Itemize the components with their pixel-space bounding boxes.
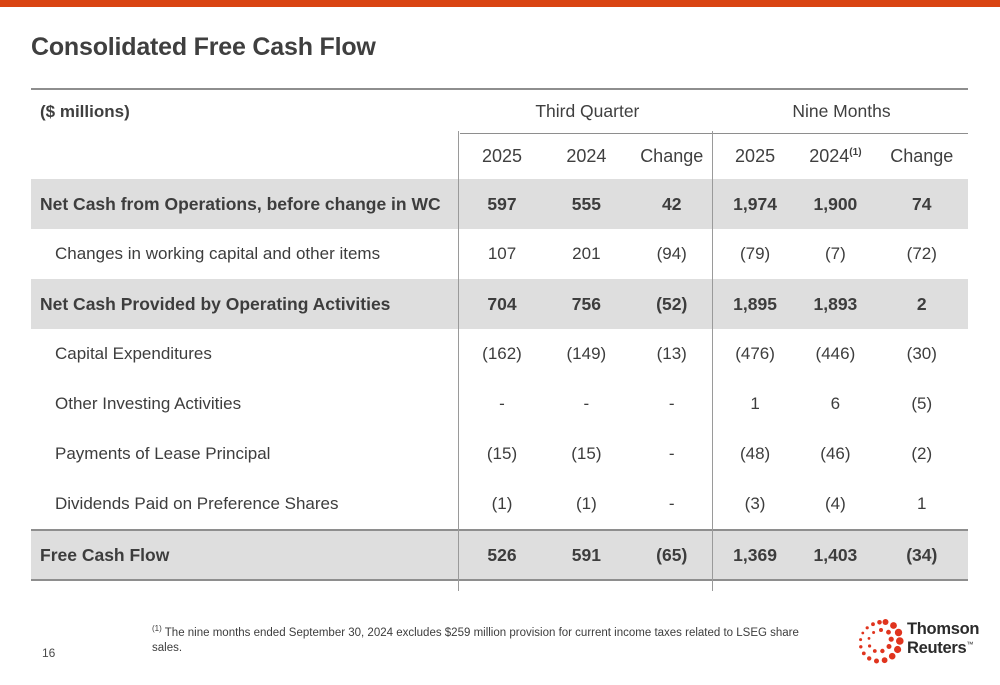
- cell-ytd-change: 74: [876, 179, 968, 229]
- cell-ytd-2024: (7): [795, 229, 875, 279]
- cell-q3-2024: 756: [544, 279, 628, 329]
- group-header-row: ($ millions) Third Quarter Nine Months: [31, 89, 968, 134]
- cell-ytd-change: (30): [876, 329, 968, 379]
- free-cash-flow-table: ($ millions) Third Quarter Nine Months 2…: [31, 88, 968, 581]
- cell-q3-2024: (149): [544, 329, 628, 379]
- group-header-third-quarter: Third Quarter: [460, 89, 715, 134]
- logo-line-thomson: Thomson: [907, 620, 979, 639]
- group-header-nine-months: Nine Months: [715, 89, 968, 134]
- cell-ytd-2025: (48): [715, 429, 795, 479]
- column-header-row: 2025 2024 Change 2025 2024(1) Change: [31, 134, 968, 180]
- row-label: Other Investing Activities: [31, 379, 460, 429]
- cell-q3-change: (13): [629, 329, 715, 379]
- table-row: Changes in working capital and other ite…: [31, 229, 968, 279]
- cell-ytd-2024: (446): [795, 329, 875, 379]
- trademark-symbol: ™: [966, 642, 973, 649]
- thomson-reuters-logo: Thomson Reuters™: [855, 614, 975, 670]
- row-label: Net Cash from Operations, before change …: [31, 179, 460, 229]
- cell-ytd-change: (2): [876, 429, 968, 479]
- cell-q3-2024: 555: [544, 179, 628, 229]
- thomson-reuters-dots-icon: [855, 616, 907, 668]
- column-header-spacer: [31, 134, 460, 180]
- cell-ytd-change: 1: [876, 479, 968, 530]
- row-label: Free Cash Flow: [31, 530, 460, 580]
- cell-q3-2025: (1): [460, 479, 544, 530]
- footnote: (1) The nine months ended September 30, …: [152, 624, 832, 656]
- cell-ytd-2024: 6: [795, 379, 875, 429]
- column-header-q3-2024: 2024: [544, 134, 628, 180]
- cell-ytd-2025: 1,974: [715, 179, 795, 229]
- column-header-ytd-2025: 2025: [715, 134, 795, 180]
- units-label: ($ millions): [31, 89, 460, 134]
- column-header-q3-2025: 2025: [460, 134, 544, 180]
- page-title: Consolidated Free Cash Flow: [31, 33, 376, 62]
- footnote-text: The nine months ended September 30, 2024…: [152, 627, 799, 654]
- cell-q3-change: (52): [629, 279, 715, 329]
- top-accent-bar: [0, 0, 1000, 7]
- cell-q3-change: (65): [629, 530, 715, 580]
- cell-q3-2024: (1): [544, 479, 628, 530]
- column-header-ytd-change: Change: [876, 134, 968, 180]
- table-body: Net Cash from Operations, before change …: [31, 179, 968, 580]
- row-label: Changes in working capital and other ite…: [31, 229, 460, 279]
- cell-q3-2024: (15): [544, 429, 628, 479]
- cell-q3-2024: 591: [544, 530, 628, 580]
- cell-q3-change: 42: [629, 179, 715, 229]
- cell-q3-2025: (15): [460, 429, 544, 479]
- cell-ytd-2025: 1: [715, 379, 795, 429]
- table-head: ($ millions) Third Quarter Nine Months 2…: [31, 89, 968, 179]
- cell-ytd-2024: (46): [795, 429, 875, 479]
- cell-q3-2025: (162): [460, 329, 544, 379]
- cell-q3-2025: 526: [460, 530, 544, 580]
- footnote-marker-header: (1): [849, 147, 861, 158]
- cell-ytd-change: 2: [876, 279, 968, 329]
- cell-ytd-2024: 1,900: [795, 179, 875, 229]
- table-row: Net Cash Provided by Operating Activitie…: [31, 279, 968, 329]
- cell-ytd-change: (72): [876, 229, 968, 279]
- cell-q3-2024: -: [544, 379, 628, 429]
- table-row-total: Free Cash Flow 526 591 (65) 1,369 1,403 …: [31, 530, 968, 580]
- cell-q3-2024: 201: [544, 229, 628, 279]
- footnote-marker: (1): [152, 624, 162, 633]
- page-number: 16: [42, 646, 55, 660]
- cell-q3-change: -: [629, 479, 715, 530]
- row-label: Capital Expenditures: [31, 329, 460, 379]
- table-row: Payments of Lease Principal (15) (15) - …: [31, 429, 968, 479]
- cell-q3-2025: 107: [460, 229, 544, 279]
- cell-q3-change: (94): [629, 229, 715, 279]
- cell-ytd-2024: 1,893: [795, 279, 875, 329]
- row-label: Dividends Paid on Preference Shares: [31, 479, 460, 530]
- row-label: Payments of Lease Principal: [31, 429, 460, 479]
- cell-q3-2025: 597: [460, 179, 544, 229]
- cell-ytd-2025: (3): [715, 479, 795, 530]
- cell-q3-2025: -: [460, 379, 544, 429]
- cell-q3-change: -: [629, 379, 715, 429]
- cell-ytd-change: (34): [876, 530, 968, 580]
- thomson-reuters-wordmark: Thomson Reuters™: [907, 620, 979, 659]
- table-row: Capital Expenditures (162) (149) (13) (4…: [31, 329, 968, 379]
- cell-ytd-2025: 1,895: [715, 279, 795, 329]
- column-group-divider-right: [712, 131, 713, 591]
- cell-ytd-2025: (79): [715, 229, 795, 279]
- table-row: Net Cash from Operations, before change …: [31, 179, 968, 229]
- row-label: Net Cash Provided by Operating Activitie…: [31, 279, 460, 329]
- cell-q3-change: -: [629, 429, 715, 479]
- column-group-divider-left: [458, 131, 459, 591]
- column-header-ytd-2024: 2024(1): [795, 134, 875, 180]
- table-row: Other Investing Activities - - - 1 6 (5): [31, 379, 968, 429]
- cell-ytd-2024: 1,403: [795, 530, 875, 580]
- column-header-q3-change: Change: [629, 134, 715, 180]
- cell-ytd-2025: (476): [715, 329, 795, 379]
- table-row: Dividends Paid on Preference Shares (1) …: [31, 479, 968, 530]
- cell-ytd-2025: 1,369: [715, 530, 795, 580]
- cell-ytd-2024: (4): [795, 479, 875, 530]
- logo-line-reuters: Reuters™: [907, 639, 979, 658]
- cell-q3-2025: 704: [460, 279, 544, 329]
- cell-ytd-change: (5): [876, 379, 968, 429]
- free-cash-flow-table-wrapper: ($ millions) Third Quarter Nine Months 2…: [31, 88, 968, 581]
